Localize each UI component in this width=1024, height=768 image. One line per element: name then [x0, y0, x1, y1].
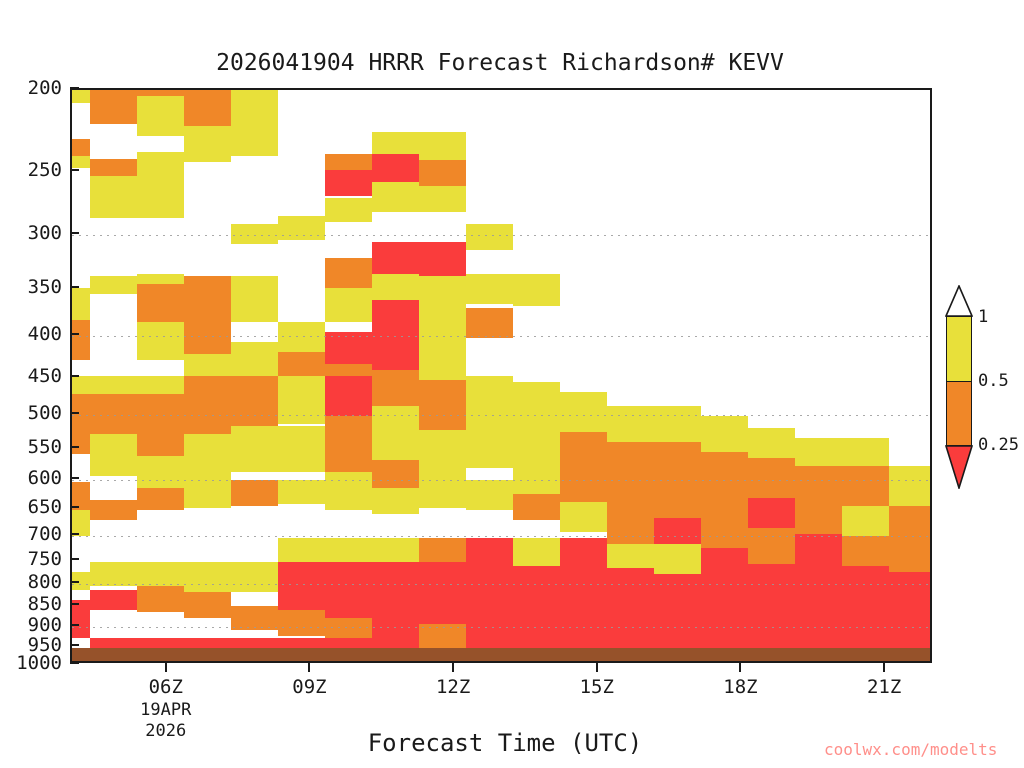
y-axis-tick-mark [70, 286, 79, 288]
y-axis-tick-mark [70, 644, 79, 646]
heatmap-cell [72, 139, 90, 156]
heatmap-cell [90, 90, 137, 124]
y-axis-tick-mark [70, 375, 79, 377]
heatmap-cell [701, 548, 748, 578]
y-axis-tick-label: 200 [28, 77, 62, 99]
heatmap-cell [372, 406, 419, 460]
heatmap-cell [701, 452, 748, 492]
heatmap-cell [466, 568, 513, 628]
y-axis-tick-mark [70, 446, 79, 448]
heatmap-cell [90, 590, 137, 610]
heatmap-cell [842, 566, 889, 632]
heatmap-cell [560, 564, 607, 630]
colorbar-band-yellow [947, 317, 971, 381]
heatmap-cell [72, 600, 90, 638]
y-axis-tick-label: 850 [28, 593, 62, 615]
heatmap-cell [231, 224, 278, 244]
colorbar-above-arrow [945, 285, 973, 317]
heatmap-cell [137, 322, 184, 360]
heatmap-cell [419, 308, 466, 340]
y-axis-tick-label: 600 [28, 467, 62, 489]
heatmap-cell [325, 170, 372, 196]
heatmap-cell [137, 586, 184, 612]
heatmap-cell [466, 538, 513, 568]
heatmap-cell [419, 276, 466, 308]
x-axis-tick-label: 09Z [292, 676, 326, 698]
heatmap-cell [325, 416, 372, 472]
y-axis-tick-mark [70, 662, 79, 664]
heatmap-cell [372, 562, 419, 628]
heatmap-cell [513, 494, 560, 520]
y-axis-tick-label: 300 [28, 222, 62, 244]
heatmap-cell [137, 562, 184, 586]
heatmap-cell [325, 198, 372, 222]
heatmap-cell [795, 438, 842, 466]
heatmap-cell [889, 466, 932, 506]
colorbar [946, 316, 972, 446]
heatmap-cell [184, 480, 231, 508]
y-axis-tick-label: 550 [28, 436, 62, 458]
heatmap-cell [325, 538, 372, 564]
heatmap-cell [607, 406, 654, 442]
y-axis-tick-label: 650 [28, 496, 62, 518]
heatmap-cell [137, 176, 184, 218]
y-axis-tick-label: 700 [28, 523, 62, 545]
heatmap-cell [419, 186, 466, 212]
heatmap-cell [748, 564, 795, 632]
heatmap-cell [466, 480, 513, 510]
heatmap-cell [325, 376, 372, 416]
heatmap-cell [231, 90, 278, 156]
heatmap-cell [184, 322, 231, 354]
heatmap-cell [654, 442, 701, 482]
heatmap-cell [372, 182, 419, 212]
y-axis: 2002503003504004505005506006507007508008… [0, 0, 62, 768]
y-axis-tick-label: 450 [28, 365, 62, 387]
heatmap-cell [72, 90, 90, 103]
heatmap-cell [466, 274, 513, 304]
y-axis-tick-label: 350 [28, 276, 62, 298]
x-axis-date-line1: 19APR [140, 700, 191, 721]
heatmap-cells [72, 90, 930, 661]
heatmap-cell [137, 394, 184, 456]
heatmap-cell [795, 562, 842, 632]
heatmap-cell [513, 420, 560, 466]
y-axis-tick-mark [70, 603, 79, 605]
heatmap-cell [184, 276, 231, 322]
y-axis-tick-mark [70, 477, 79, 479]
heatmap-cell [419, 242, 466, 276]
heatmap-cell [231, 342, 278, 378]
heatmap-cell [419, 160, 466, 186]
y-axis-tick-label: 750 [28, 548, 62, 570]
heatmap-cell [466, 224, 513, 250]
heatmap-cell [466, 422, 513, 468]
heatmap-cell [278, 322, 325, 352]
y-axis-tick-label: 500 [28, 402, 62, 424]
heatmap-cell [419, 380, 466, 430]
heatmap-cell [419, 562, 466, 624]
heatmap-cell [560, 392, 607, 432]
heatmap-cell [748, 498, 795, 528]
heatmap-cell [419, 430, 466, 476]
heatmap-cell [90, 638, 137, 648]
heatmap-cell [184, 562, 231, 592]
y-axis-tick-mark [70, 87, 79, 89]
heatmap-cell [231, 480, 278, 506]
heatmap-cell [231, 426, 278, 472]
heatmap-cell [701, 578, 748, 632]
heatmap-cell [325, 562, 372, 618]
heatmap-cell [560, 432, 607, 470]
ground-bar [72, 648, 930, 661]
heatmap-cell [278, 610, 325, 636]
heatmap-cell [184, 126, 231, 162]
heatmap-cell [231, 376, 278, 426]
y-axis-tick-mark [70, 169, 79, 171]
y-axis-tick-label: 400 [28, 323, 62, 345]
heatmap-cell [513, 382, 560, 420]
x-axis-tick-mark [883, 663, 885, 672]
x-axis-tick-mark [452, 663, 454, 672]
heatmap-cell [513, 466, 560, 494]
heatmap-cell [184, 592, 231, 618]
heatmap-cell [889, 540, 932, 572]
y-axis-tick-mark [70, 412, 79, 414]
x-axis-tick-label: 21Z [867, 676, 901, 698]
heatmap-cell [278, 426, 325, 472]
heatmap-cell [889, 572, 932, 632]
heatmap-cell [90, 276, 137, 294]
heatmap-cell [137, 96, 184, 136]
heatmap-cell [372, 538, 419, 562]
x-axis-tick-label: 06Z [149, 676, 183, 698]
heatmap-cell [654, 406, 701, 442]
colorbar-label-0p5: 0.5 [978, 371, 1009, 391]
heatmap-cell [90, 500, 137, 520]
heatmap-cell [607, 442, 654, 482]
y-axis-tick-mark [70, 624, 79, 626]
heatmap-cell [184, 376, 231, 434]
heatmap-cell [701, 492, 748, 524]
x-axis-tick-label: 12Z [436, 676, 470, 698]
heatmap-cell [748, 528, 795, 564]
heatmap-cell [748, 428, 795, 458]
heatmap-cell [889, 506, 932, 540]
heatmap-cell [372, 488, 419, 514]
x-axis-tick-label: 18Z [723, 676, 757, 698]
heatmap-cell [560, 538, 607, 564]
y-axis-tick-label: 800 [28, 571, 62, 593]
heatmap-cell [795, 466, 842, 504]
heatmap-cell [137, 456, 184, 488]
heatmap-cell [90, 394, 137, 434]
heatmap-cell [842, 536, 889, 566]
heatmap-cell [607, 568, 654, 632]
heatmap-cell [90, 562, 137, 586]
heatmap-cell [137, 152, 184, 176]
heatmap-cell [231, 276, 278, 322]
y-axis-tick-mark [70, 558, 79, 560]
chart-page: 2026041904 HRRR Forecast Richardson# KEV… [0, 0, 1024, 768]
heatmap-cell [419, 476, 466, 508]
heatmap-cell [372, 274, 419, 300]
heatmap-cell [72, 320, 90, 360]
heatmap-cell [701, 416, 748, 452]
heatmap-cell [72, 394, 90, 454]
heatmap-cell [90, 176, 137, 218]
x-axis-tick-mark [739, 663, 741, 672]
colorbar-below-arrow [945, 445, 973, 489]
heatmap-cell [607, 544, 654, 568]
heatmap-cell [513, 538, 560, 566]
heatmap-cell [278, 216, 325, 240]
heatmap-cell [90, 434, 137, 476]
x-axis-tick-mark [165, 663, 167, 672]
x-axis-tick-label: 15Z [580, 676, 614, 698]
heatmap-cell [325, 332, 372, 364]
heatmap-cell [325, 288, 372, 322]
heatmap-cell [842, 466, 889, 506]
heatmap-cell [137, 488, 184, 510]
heatmap-cell [607, 482, 654, 516]
heatmap-cell [654, 544, 701, 574]
heatmap-cell [513, 274, 560, 306]
heatmap-cell [748, 458, 795, 498]
heatmap-cell [231, 606, 278, 630]
heatmap-cell [842, 438, 889, 466]
heatmap-cell [278, 562, 325, 610]
heatmap-cell [795, 534, 842, 562]
y-axis-tick-mark [70, 581, 79, 583]
y-axis-tick-mark [70, 333, 79, 335]
heatmap-cell [654, 574, 701, 632]
heatmap-cell [560, 502, 607, 532]
plot-area [70, 88, 932, 663]
y-axis-tick-label: 1000 [16, 652, 62, 674]
colorbar-label-0p25: 0.25 [978, 435, 1019, 455]
heatmap-cell [231, 562, 278, 592]
y-axis-tick-label: 900 [28, 614, 62, 636]
colorbar-label-1: 1 [978, 307, 988, 327]
heatmap-cell [72, 156, 90, 168]
heatmap-cell [372, 334, 419, 370]
y-axis-tick-mark [70, 533, 79, 535]
x-axis-tick-mark [596, 663, 598, 672]
page-title: 2026041904 HRRR Forecast Richardson# KEV… [0, 50, 1000, 76]
heatmap-cell [278, 376, 325, 424]
heatmap-cell [795, 504, 842, 534]
heatmap-cell [654, 482, 701, 518]
heatmap-cell [701, 524, 748, 548]
heatmap-cell [137, 274, 184, 284]
heatmap-cell [607, 516, 654, 544]
heatmap-cell [325, 472, 372, 510]
heatmap-cell [325, 618, 372, 638]
heatmap-cell [654, 518, 701, 544]
heatmap-cell [372, 370, 419, 406]
heatmap-cell [278, 480, 325, 504]
heatmap-cell [842, 506, 889, 536]
heatmap-cell [513, 566, 560, 630]
credit-watermark: coolwx.com/modelts [824, 740, 997, 759]
heatmap-cell [419, 132, 466, 160]
heatmap-cell [372, 300, 419, 334]
heatmap-cell [372, 242, 419, 274]
x-axis-tick-mark [308, 663, 310, 672]
y-axis-tick-mark [70, 506, 79, 508]
y-axis-tick-label: 250 [28, 159, 62, 181]
heatmap-cell [560, 470, 607, 502]
heatmap-cell [184, 434, 231, 480]
heatmap-cell [419, 340, 466, 380]
heatmap-cell [466, 308, 513, 338]
heatmap-cell [466, 376, 513, 422]
y-axis-tick-mark [70, 232, 79, 234]
heatmap-cell [325, 258, 372, 288]
heatmap-cell [419, 538, 466, 564]
heatmap-cell [372, 460, 419, 488]
colorbar-band-orange [947, 381, 971, 445]
